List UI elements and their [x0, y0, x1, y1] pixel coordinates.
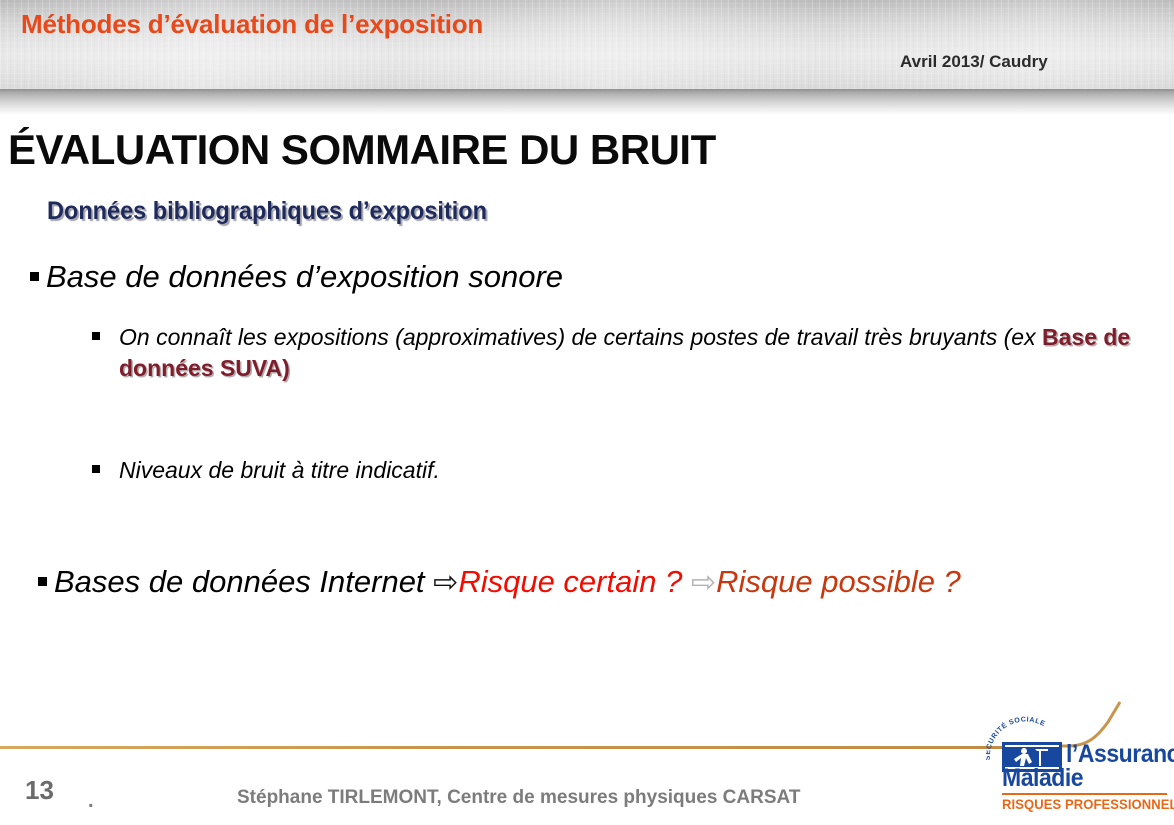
arrow-right-gray-icon: ⇨	[691, 566, 716, 599]
bullet-niveaux-de-bruit: Niveaux de bruit à titre indicatif.	[92, 455, 792, 486]
slide-body: Base de données d’exposition sonore On c…	[0, 0, 1174, 825]
bullet-bases-internet: Bases de données Internet ⇨Risque certai…	[38, 565, 961, 600]
logo-orange-rule	[1002, 793, 1167, 795]
risque-possible-label: Risque possible ?	[716, 564, 961, 599]
square-bullet-icon	[38, 577, 47, 586]
square-bullet-icon	[92, 332, 100, 340]
risque-certain-label: Risque certain ?	[458, 564, 682, 599]
bullet-on-connait-prefix: On connaît les expositions (approximativ…	[119, 324, 1042, 350]
page-number: 13	[25, 775, 54, 806]
logo-line-risques-professionnels: RISQUES PROFESSIONNELS	[1002, 796, 1174, 812]
arrow-right-black-icon: ⇨	[433, 566, 458, 599]
bullet-bases-prefix: Bases de données Internet	[54, 564, 433, 599]
bullet-on-connait: On connaît les expositions (approximativ…	[92, 322, 1162, 384]
logo-line-maladie: Maladie	[1002, 764, 1083, 793]
bullet-niveaux-label: Niveaux de bruit à titre indicatif.	[119, 455, 792, 486]
square-bullet-icon	[30, 272, 39, 281]
footer-author-text: Stéphane TIRLEMONT, Centre de mesures ph…	[237, 787, 800, 809]
bullet-on-connait-text: On connaît les expositions (approximativ…	[119, 322, 1162, 384]
square-bullet-icon	[92, 465, 100, 473]
bullet-base-de-donnees: Base de données d’exposition sonore	[30, 260, 563, 295]
footer-dot: .	[88, 790, 94, 813]
footer-rule	[0, 746, 1060, 749]
bullet-base-label: Base de données d’exposition sonore	[46, 259, 563, 294]
logo-assurance-maladie: SÉCURITÉ SOCIALE l’Assurance Maladie RIS…	[986, 716, 1170, 816]
